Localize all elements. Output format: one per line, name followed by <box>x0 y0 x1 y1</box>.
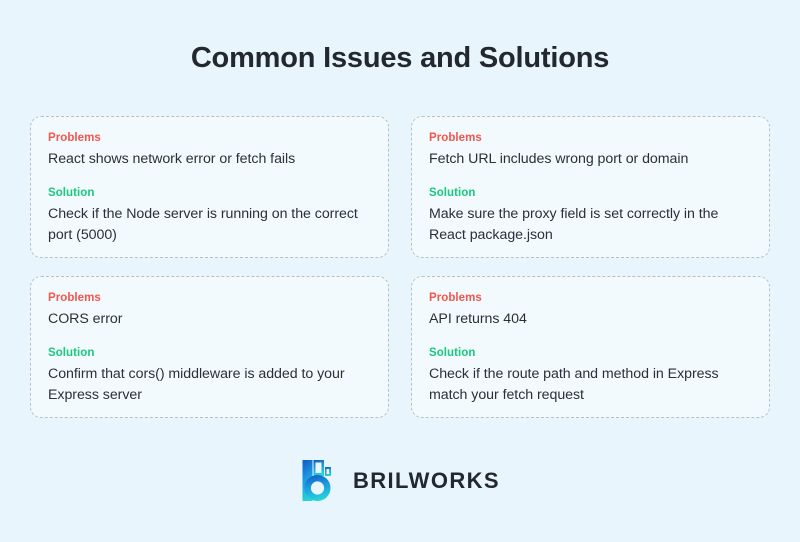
footer-brand-lockup: BRILWORKS <box>0 458 800 503</box>
problem-text: React shows network error or fetch fails <box>48 149 371 170</box>
problem-label: Problems <box>48 131 371 146</box>
solution-text: Check if the route path and method in Ex… <box>429 364 752 406</box>
solution-text: Make sure the proxy field is set correct… <box>429 204 752 246</box>
page-title: Common Issues and Solutions <box>0 40 800 76</box>
solution-label: Solution <box>429 186 752 201</box>
problem-label: Problems <box>48 291 371 306</box>
solution-label: Solution <box>429 346 752 361</box>
problem-text: CORS error <box>48 309 371 330</box>
issue-solution-card: Problems API returns 404 Solution Check … <box>411 276 770 418</box>
solution-text: Confirm that cors() middleware is added … <box>48 364 371 406</box>
infographic-page: Common Issues and Solutions Problems Rea… <box>0 0 800 542</box>
issues-solutions-grid: Problems React shows network error or fe… <box>30 116 770 418</box>
issue-solution-card: Problems CORS error Solution Confirm tha… <box>30 276 389 418</box>
solution-block: Solution Check if the route path and met… <box>429 346 752 406</box>
problem-text: API returns 404 <box>429 309 752 330</box>
brand-name: BRILWORKS <box>353 469 500 493</box>
problem-label: Problems <box>429 131 752 146</box>
solution-label: Solution <box>48 346 371 361</box>
solution-label: Solution <box>48 186 371 201</box>
solution-text: Check if the Node server is running on t… <box>48 204 371 246</box>
issue-solution-card: Problems Fetch URL includes wrong port o… <box>411 116 770 258</box>
problem-label: Problems <box>429 291 752 306</box>
problem-text: Fetch URL includes wrong port or domain <box>429 149 752 170</box>
solution-block: Solution Check if the Node server is run… <box>48 186 371 246</box>
solution-block: Solution Make sure the proxy field is se… <box>429 186 752 246</box>
solution-block: Solution Confirm that cors() middleware … <box>48 346 371 406</box>
brilworks-b-logo-icon <box>300 458 340 503</box>
issue-solution-card: Problems React shows network error or fe… <box>30 116 389 258</box>
